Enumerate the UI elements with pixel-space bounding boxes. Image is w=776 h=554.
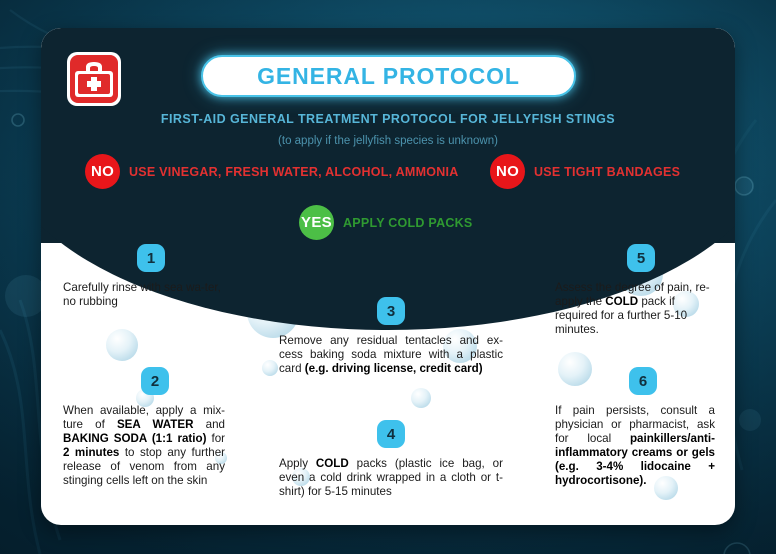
subtitle-note: (to apply if the jellyfish species is un… — [41, 135, 735, 147]
step-number-badge: 4 — [377, 420, 405, 448]
step-text: Remove any residual tentacles and ex-ces… — [279, 334, 503, 376]
step-number-badge: 2 — [141, 367, 169, 395]
step-1: 1 Carefully rinse with sea wa-ter, no ru… — [63, 244, 225, 309]
step-2: 2 When available, apply a mix-ture of SE… — [63, 367, 225, 487]
step-text: Assess the degree of pain, re-apply the … — [555, 281, 715, 337]
rule-yes-cold-packs: YES APPLY COLD PACKS — [299, 205, 473, 240]
step-number-badge: 1 — [137, 244, 165, 272]
rule-text: APPLY COLD PACKS — [343, 216, 473, 230]
no-badge: NO — [85, 154, 120, 189]
rule-no-avoid-substances: NO USE VINEGAR, FRESH WATER, ALCOHOL, AM… — [85, 154, 458, 189]
no-badge: NO — [490, 154, 525, 189]
step-6: 6 If pain persists, consult a physician … — [555, 367, 715, 487]
yes-badge: YES — [299, 205, 334, 240]
rule-no-tight-bandages: NO USE TIGHT BANDAGES — [490, 154, 680, 189]
step-number-badge: 6 — [629, 367, 657, 395]
step-number-badge: 5 — [627, 244, 655, 272]
page-title: GENERAL PROTOCOL — [257, 63, 520, 90]
step-text: When available, apply a mix-ture of SEA … — [63, 404, 225, 487]
step-number-badge: 3 — [377, 297, 405, 325]
step-text: Carefully rinse with sea wa-ter, no rubb… — [63, 281, 225, 309]
step-4: 4 Apply COLD packs (plastic ice bag, or … — [279, 420, 503, 499]
step-text: If pain persists, consult a physician or… — [555, 404, 715, 487]
step-text: Apply COLD packs (plastic ice bag, or ev… — [279, 457, 503, 499]
rule-text: USE VINEGAR, FRESH WATER, ALCOHOL, AMMON… — [129, 165, 458, 179]
protocol-card: GENERAL PROTOCOL FIRST-AID GENERAL TREAT… — [41, 28, 735, 525]
step-3: 3 Remove any residual tentacles and ex-c… — [279, 297, 503, 376]
step-5: 5 Assess the degree of pain, re-apply th… — [555, 244, 715, 337]
subtitle: FIRST-AID GENERAL TREATMENT PROTOCOL FOR… — [41, 112, 735, 126]
first-aid-kit-icon — [65, 50, 123, 108]
title-pill: GENERAL PROTOCOL — [201, 55, 576, 97]
rule-text: USE TIGHT BANDAGES — [534, 165, 680, 179]
